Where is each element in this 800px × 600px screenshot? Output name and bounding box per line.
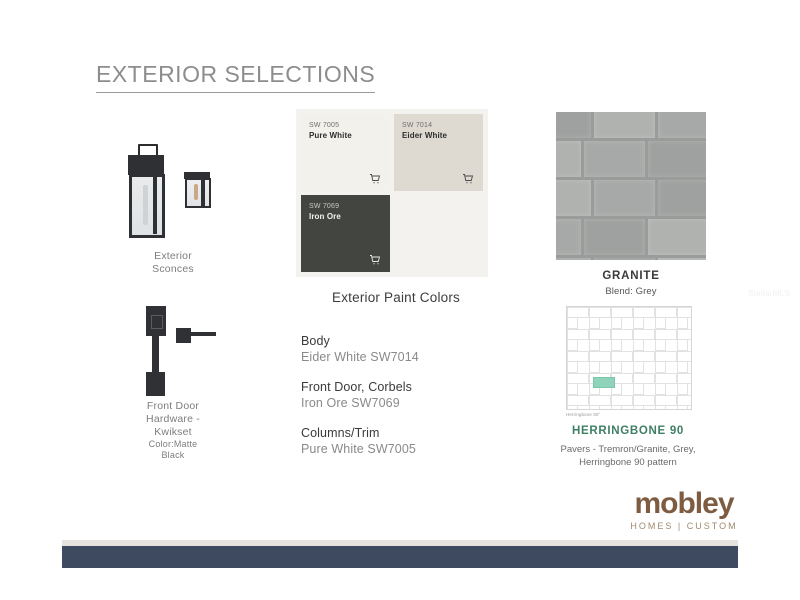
exterior-sconces-section: Exterior Sconces — [108, 130, 238, 290]
paint-list-item: Front Door, Corbels Iron Ore SW7069 — [301, 379, 501, 411]
herringbone-tile — [655, 395, 677, 406]
paver-brick — [584, 141, 645, 177]
herringbone-tile — [677, 307, 692, 318]
hardware-caption-line1: Front Door — [108, 400, 238, 413]
hardware-caption-line4: Color:Matte — [108, 439, 238, 450]
granite-title: GRANITE — [556, 270, 706, 282]
paver-brick — [648, 219, 706, 255]
paint-item-value: Eider White SW7014 — [301, 349, 501, 365]
paint-item-value: Iron Ore SW7069 — [301, 395, 501, 411]
paver-brick — [594, 112, 655, 138]
swatch-code: SW 7005 — [309, 122, 390, 129]
small-lantern-sconce-icon — [184, 172, 212, 212]
paver-brick — [556, 112, 591, 138]
herringbone-tile — [589, 329, 611, 340]
cart-icon[interactable] — [462, 172, 474, 184]
paint-swatch-iron-ore[interactable]: SW 7069 Iron Ore — [301, 195, 390, 272]
herringbone-tile — [611, 395, 633, 406]
cart-icon[interactable] — [369, 253, 381, 265]
swatch-name: Pure White — [309, 131, 390, 140]
paint-swatch-empty-cell — [394, 195, 483, 272]
hardware-color-caption: Color:Matte Black — [108, 439, 238, 461]
herringbone-tile — [567, 373, 589, 384]
herringbone-tile — [677, 329, 692, 340]
herringbone-tile — [611, 329, 633, 340]
paver-brick — [658, 180, 706, 216]
herringbone-title: HERRINGBONE 90 — [553, 425, 703, 437]
sconce-caption-line1: Exterior — [108, 250, 238, 263]
herringbone-tile — [655, 307, 677, 318]
swatch-name: Iron Ore — [309, 212, 390, 221]
granite-paver-section: GRANITE Blend: Grey — [556, 112, 706, 297]
herringbone-tile — [567, 307, 589, 318]
paint-swatch-eider-white[interactable]: SW 7014 Eider White — [394, 114, 483, 191]
mobley-logo: mobley HOMES | CUSTOM — [614, 489, 754, 531]
sconce-caption-line2: Sconces — [108, 263, 238, 276]
hardware-caption: Front Door Hardware - Kwikset — [108, 400, 238, 439]
herringbone-pattern-diagram — [566, 306, 692, 410]
herringbone-tile — [633, 373, 655, 384]
paint-swatch-panel: SW 7005 Pure White SW 7014 Eider White — [296, 109, 488, 277]
large-lantern-sconce-icon — [126, 144, 166, 236]
front-door-hardware-section: Front Door Hardware - Kwikset Color:Matt… — [108, 300, 238, 461]
herringbone-tile — [611, 307, 633, 318]
herringbone-tile — [567, 351, 589, 362]
herringbone-tile — [567, 395, 589, 406]
paver-brick — [556, 219, 581, 255]
granite-subtitle: Blend: Grey — [556, 286, 706, 297]
paver-brick — [658, 258, 706, 260]
herringbone-tile — [655, 329, 677, 340]
paver-brick — [584, 219, 645, 255]
paver-brick — [556, 258, 591, 260]
hardware-caption-line5: Black — [108, 450, 238, 461]
footer-bar — [62, 546, 738, 568]
herringbone-subtitle-line2: Herringbone 90 pattern — [540, 456, 716, 469]
herringbone-tile — [633, 395, 655, 406]
herringbone-tile — [567, 329, 589, 340]
sconce-caption: Exterior Sconces — [108, 250, 238, 276]
paint-item-label: Columns/Trim — [301, 425, 501, 441]
paver-brick — [658, 112, 706, 138]
herringbone-diagram-caption: Herringbone 90° — [566, 412, 696, 417]
logo-wordmark: mobley — [614, 489, 754, 519]
herringbone-tile — [655, 351, 677, 362]
paver-brick — [594, 180, 655, 216]
hardware-caption-line3: Kwikset — [108, 426, 238, 439]
paint-swatch-grid: SW 7005 Pure White SW 7014 Eider White — [301, 114, 483, 272]
herringbone-tile — [633, 307, 655, 318]
paver-brick — [556, 141, 581, 177]
sconce-product-image — [108, 130, 238, 250]
paver-brick — [556, 180, 591, 216]
herringbone-tile — [633, 329, 655, 340]
herringbone-tile — [677, 373, 692, 384]
handleset-product-image — [108, 300, 238, 400]
paint-item-value: Pure White SW7005 — [301, 441, 501, 457]
door-handleset-icon — [130, 306, 220, 398]
herringbone-tile — [589, 395, 611, 406]
herringbone-tile — [589, 307, 611, 318]
paver-brick — [594, 258, 655, 260]
herringbone-section: Herringbone 90° HERRINGBONE 90 Pavers - … — [566, 306, 696, 469]
paint-item-label: Body — [301, 333, 501, 349]
paint-swatch-pure-white[interactable]: SW 7005 Pure White — [301, 114, 390, 191]
herringbone-subtitle-line1: Pavers - Tremron/Granite, Grey, — [540, 443, 716, 456]
herringbone-tile — [611, 351, 633, 362]
paint-item-label: Front Door, Corbels — [301, 379, 501, 395]
hardware-caption-line2: Hardware - — [108, 413, 238, 426]
herringbone-tile — [589, 351, 611, 362]
herringbone-tile — [633, 351, 655, 362]
logo-tagline: HOMES | CUSTOM — [614, 521, 754, 531]
herringbone-subtitle: Pavers - Tremron/Granite, Grey, Herringb… — [540, 443, 716, 469]
paint-list-item: Body Eider White SW7014 — [301, 333, 501, 365]
page-title: EXTERIOR SELECTIONS — [96, 61, 375, 93]
cart-icon[interactable] — [369, 172, 381, 184]
herringbone-accent-tile — [593, 377, 615, 388]
paint-section-heading: Exterior Paint Colors — [296, 290, 496, 305]
granite-paver-image — [556, 112, 706, 260]
paver-brick — [648, 141, 706, 177]
paint-list-item: Columns/Trim Pure White SW7005 — [301, 425, 501, 457]
watermark: StellarMLS — [748, 289, 790, 298]
herringbone-tile — [655, 373, 677, 384]
herringbone-tile — [677, 395, 692, 406]
swatch-code: SW 7014 — [402, 122, 483, 129]
swatch-name: Eider White — [402, 131, 483, 140]
swatch-code: SW 7069 — [309, 203, 390, 210]
herringbone-tile — [677, 351, 692, 362]
paint-selection-list: Body Eider White SW7014 Front Door, Corb… — [301, 333, 501, 471]
